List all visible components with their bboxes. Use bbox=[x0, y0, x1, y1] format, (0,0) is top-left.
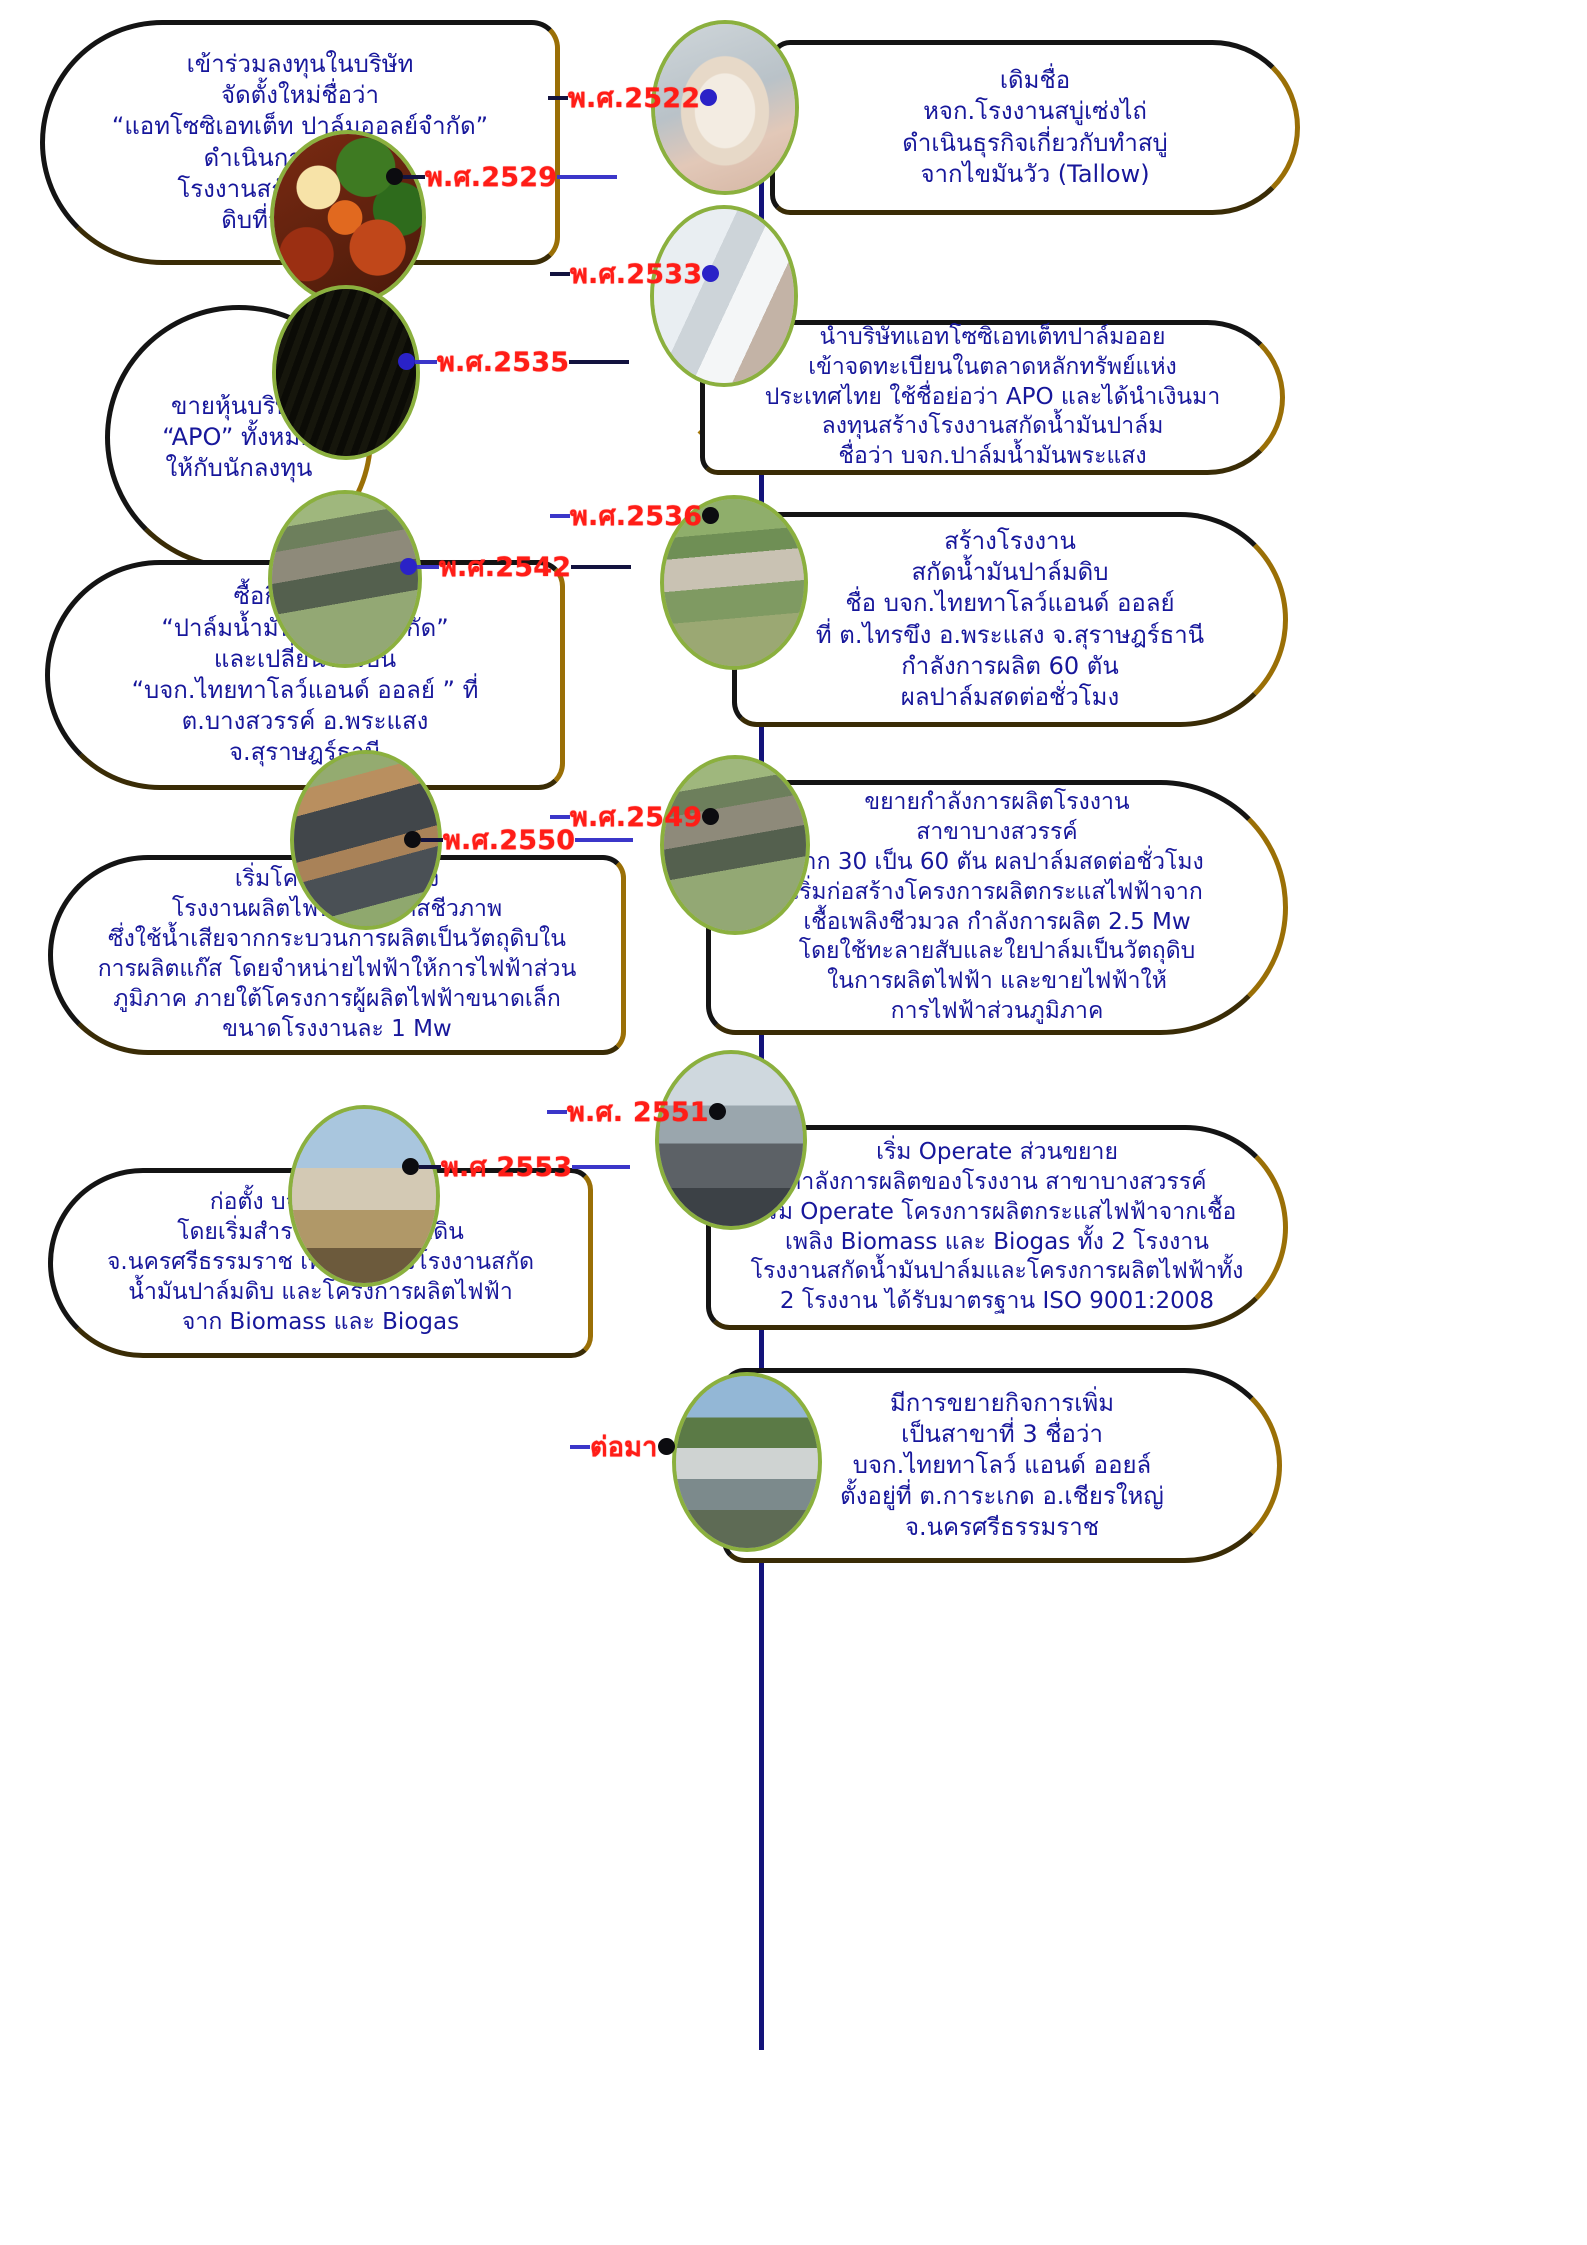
bubble-line: เดิมชื่อ bbox=[1000, 65, 1070, 96]
bubble-line: เริ่มก่อสร้างโครงการผลิตกระแสไฟฟ้าจาก bbox=[791, 878, 1203, 908]
year-tick bbox=[417, 565, 439, 569]
year-marker-later[interactable]: ต่อมา bbox=[570, 1425, 675, 1468]
bubble-line: ขนาดโรงงานละ 1 Mw bbox=[222, 1015, 451, 1045]
bubble-line: ที่ ต.ไทรขึง อ.พระแสง จ.สุราษฎร์ธานี bbox=[816, 620, 1204, 651]
year-dot bbox=[658, 1438, 675, 1455]
bubble-line: เริ่ม Operate โครงการผลิตกระแสไฟฟ้าจากเช… bbox=[758, 1198, 1237, 1228]
bubble-line: กำลังการผลิต 60 ตัน bbox=[901, 651, 1118, 682]
year-marker-2542[interactable]: พ.ศ.2542 bbox=[400, 545, 631, 588]
bubble-line: จัดตั้งใหม่ชื่อว่า bbox=[221, 80, 379, 111]
bubble-line: เข้าร่วมลงทุนในบริษัท bbox=[187, 49, 414, 80]
bubble-line: จ.นครศรีธรรมราช bbox=[905, 1512, 1099, 1543]
bubble-line: ผลปาล์มสดต่อชั่วโมง bbox=[901, 682, 1119, 713]
year-marker-2529[interactable]: พ.ศ.2529 bbox=[386, 155, 617, 198]
year-label: พ.ศ 2553 bbox=[441, 1145, 572, 1188]
year-label: พ.ศ.2533 bbox=[570, 252, 702, 295]
year-tick bbox=[547, 1110, 567, 1114]
year-tick bbox=[403, 175, 425, 179]
bubble-line: หจก.โรงงานสบู่เซ่งไถ่ bbox=[923, 96, 1147, 127]
bubble-line: สาขาบางสวรรค์ bbox=[916, 818, 1077, 848]
land-surveyor-photo bbox=[288, 1105, 440, 1287]
year-label: ต่อมา bbox=[590, 1425, 658, 1468]
year-label: พ.ศ.2535 bbox=[437, 340, 569, 383]
year-dot bbox=[400, 558, 417, 575]
bubble-line: ภูมิภาค ภายใต้โครงการผู้ผลิตไฟฟ้าขนาดเล็… bbox=[113, 985, 561, 1015]
year-marker-2551[interactable]: พ.ศ. 2551 bbox=[547, 1090, 726, 1133]
year-tick bbox=[415, 360, 437, 364]
year-marker-2522[interactable]: พ.ศ.2522 bbox=[548, 76, 717, 119]
year-dot bbox=[386, 168, 403, 185]
bangsawan-branch-aerial-photo bbox=[660, 755, 810, 935]
year-dot bbox=[398, 353, 415, 370]
bubble-line: จากไขมันวัว (Tallow) bbox=[920, 159, 1149, 190]
year-tick bbox=[550, 514, 570, 518]
year-dot bbox=[700, 89, 717, 106]
year-label: พ.ศ.2522 bbox=[568, 76, 700, 119]
year-label: พ.ศ.2542 bbox=[439, 545, 571, 588]
factory-site-aerial-photo bbox=[268, 490, 422, 668]
year-tick bbox=[419, 1165, 441, 1169]
bubble-line: โดยใช้ทะลายสับและใยปาล์มเป็นวัตถุดิบ bbox=[799, 937, 1196, 967]
year-label: พ.ศ. 2551 bbox=[567, 1090, 709, 1133]
event-bubble-2522: เดิมชื่อ หจก.โรงงานสบู่เซ่งไถ่ ดำเนินธุร… bbox=[770, 40, 1300, 215]
year-marker-2535[interactable]: พ.ศ.2535 bbox=[398, 340, 629, 383]
year-dot bbox=[702, 507, 719, 524]
bubble-line: การไฟฟ้าส่วนภูมิภาค bbox=[891, 997, 1104, 1027]
year-tick bbox=[575, 838, 633, 842]
bubble-line: ให้กับนักลงทุน bbox=[166, 453, 313, 484]
bubble-line: กำลังการผลิตของโรงงาน สาขาบางสวรรค์ bbox=[787, 1168, 1206, 1198]
bubble-line: นำบริษัทแอทโซซิเอทเต็ทปาล์มออย bbox=[820, 323, 1166, 353]
year-marker-2536[interactable]: พ.ศ.2536 bbox=[550, 494, 719, 537]
signing-document-photo bbox=[650, 205, 798, 387]
bubble-line: ลงทุนสร้างโรงงานสกัดน้ำมันปาล์ม bbox=[822, 412, 1164, 442]
bubble-line: ดำเนินธุรกิจเกี่ยวกับทำสบู่ bbox=[902, 128, 1167, 159]
bubble-line: จาก Biomass และ Biogas bbox=[182, 1308, 459, 1338]
year-marker-2550[interactable]: พ.ศ.2550 bbox=[404, 818, 633, 861]
year-dot bbox=[709, 1103, 726, 1120]
year-tick bbox=[421, 838, 443, 842]
year-tick bbox=[572, 1165, 630, 1169]
power-plant-structure-photo bbox=[655, 1050, 807, 1230]
year-tick bbox=[550, 272, 570, 276]
bubble-line: เชื้อเพลิงชีวมวล กำลังการผลิต 2.5 Mw bbox=[803, 908, 1190, 938]
year-tick bbox=[569, 360, 629, 364]
bubble-line: จาก 30 เป็น 60 ตัน ผลปาล์มสดต่อชั่วโมง bbox=[790, 848, 1204, 878]
bubble-line: เป็นสาขาที่ 3 ชื่อว่า bbox=[901, 1419, 1103, 1450]
bubble-line: ขยายกำลังการผลิตโรงงาน bbox=[864, 788, 1129, 818]
year-dot bbox=[402, 1158, 419, 1175]
bubble-line: ต.บางสวรรค์ อ.พระแสง bbox=[182, 706, 429, 737]
bubble-line: มีการขยายกิจการเพิ่ม bbox=[890, 1388, 1114, 1419]
bubble-line: ตั้งอยู่ที่ ต.การะเกด อ.เชียรใหญ่ bbox=[840, 1481, 1164, 1512]
bubble-line: สร้างโรงงาน bbox=[944, 526, 1076, 557]
year-dot bbox=[702, 265, 719, 282]
year-label: พ.ศ.2529 bbox=[425, 155, 557, 198]
year-label: พ.ศ.2550 bbox=[443, 818, 575, 861]
year-tick bbox=[557, 175, 617, 179]
year-tick bbox=[548, 96, 568, 100]
bubble-line: “บจก.ไทยทาโลว์แอนด์ ออลย์ ” ที่ bbox=[132, 675, 479, 706]
bubble-line: โรงงานสกัดน้ำมันปาล์มและโครงการผลิตไฟฟ้า… bbox=[751, 1257, 1244, 1287]
bubble-line: 2 โรงงาน ได้รับมาตรฐาน ISO 9001:2008 bbox=[780, 1287, 1214, 1317]
bubble-line: ประเทศไทย ใช้ชื่อย่อว่า APO และได้นำเงิน… bbox=[765, 383, 1220, 413]
bubble-line: บจก.ไทยทาโลว์ แอนด์ ออยล์ bbox=[853, 1450, 1152, 1481]
bubble-line: ชื่อว่า บจก.ปาล์มน้ำมันพระแสง bbox=[838, 442, 1146, 472]
bubble-line: เพลิง Biomass และ Biogas ทั้ง 2 โรงงาน bbox=[785, 1228, 1209, 1258]
bubble-line: ในการผลิตไฟฟ้า และขายไฟฟ้าให้ bbox=[827, 967, 1167, 997]
year-marker-2553[interactable]: พ.ศ 2553 bbox=[402, 1145, 630, 1188]
year-tick bbox=[571, 565, 631, 569]
bubble-line: เข้าจดทะเบียนในตลาดหลักทรัพย์แห่ง bbox=[808, 353, 1176, 383]
bubble-line: เริ่ม Operate ส่วนขยาย bbox=[876, 1138, 1118, 1168]
year-dot bbox=[404, 831, 421, 848]
year-label: พ.ศ.2536 bbox=[570, 494, 702, 537]
year-dot bbox=[702, 808, 719, 825]
year-marker-2533[interactable]: พ.ศ.2533 bbox=[550, 252, 719, 295]
third-branch-site-photo bbox=[672, 1372, 822, 1552]
event-bubble-2536: สร้างโรงงาน สกัดน้ำมันปาล์มดิบ ชื่อ บจก.… bbox=[732, 512, 1288, 727]
bubble-line: ชื่อ บจก.ไทยทาโลว์แอนด์ ออลย์ bbox=[845, 588, 1174, 619]
bubble-line: ซึ่งใช้น้ำเสียจากกระบวนการผลิตเป็นวัตถุด… bbox=[108, 925, 566, 955]
bubble-line: สกัดน้ำมันปาล์มดิบ bbox=[912, 557, 1109, 588]
bubble-line: การผลิตแก๊ส โดยจำหน่ายไฟฟ้าให้การไฟฟ้าส่… bbox=[98, 955, 577, 985]
year-tick bbox=[570, 1445, 590, 1449]
